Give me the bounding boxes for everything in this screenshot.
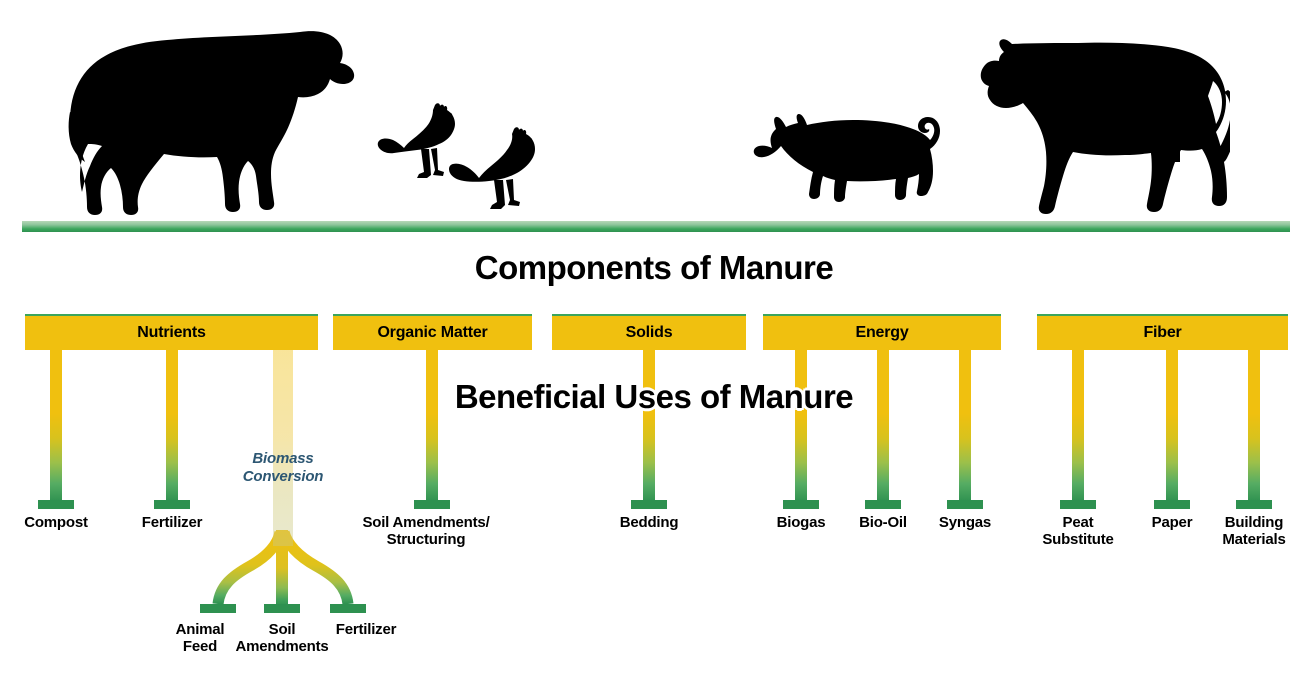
use-label-syngas: Syngas: [915, 514, 1015, 531]
text-paper: Paper: [1152, 514, 1193, 531]
text-biomass-line1: Biomass: [223, 450, 343, 468]
component-label-nutrients: Nutrients: [137, 324, 205, 342]
dairy-cow-silhouette: [968, 34, 1230, 224]
stem-syngas: [959, 350, 971, 502]
foot-bio-oil: [865, 500, 901, 509]
text-syngas: Syngas: [939, 514, 991, 531]
use-label-compost: Compost: [6, 514, 106, 531]
component-box-solids[interactable]: Solids: [552, 314, 746, 350]
chicken-two-silhouette: [448, 126, 546, 216]
use-label-soil-amendments: Soil Amendments/ Structuring: [346, 514, 506, 548]
beneficial-uses-of-manure-title: Beneficial Uses of Manure: [0, 378, 1308, 416]
stem-peat-substitute: [1072, 350, 1084, 502]
text-soil-amendments-line1: Soil Amendments/: [346, 514, 506, 531]
component-label-fiber: Fiber: [1143, 324, 1181, 342]
text-building-line2: Materials: [1204, 531, 1304, 548]
component-box-energy[interactable]: Energy: [763, 314, 1001, 350]
component-box-organic-matter[interactable]: Organic Matter: [333, 314, 532, 350]
text-fertilizer: Fertilizer: [142, 514, 203, 531]
foot-soil-amendments: [414, 500, 450, 509]
foot-paper: [1154, 500, 1190, 509]
green-divider-bar: [22, 221, 1290, 232]
foot-syngas: [947, 500, 983, 509]
stem-biogas: [795, 350, 807, 502]
text-compost: Compost: [24, 514, 88, 531]
component-box-nutrients[interactable]: Nutrients: [25, 314, 318, 350]
text-bio-oil: Bio-Oil: [859, 514, 907, 531]
stem-compost: [50, 350, 62, 502]
biomass-output-label-fertilizer: Fertilizer: [313, 621, 419, 638]
foot-compost: [38, 500, 74, 509]
use-label-fertilizer: Fertilizer: [122, 514, 222, 531]
component-label-solids: Solids: [626, 324, 673, 342]
text-bedding: Bedding: [620, 514, 679, 531]
foot-fertilizer: [154, 500, 190, 509]
stem-bio-oil: [877, 350, 889, 502]
pig-silhouette: [748, 112, 953, 208]
stem-bedding: [643, 350, 655, 502]
stem-paper: [1166, 350, 1178, 502]
text-soil-amend-line2: Amendments: [222, 638, 342, 655]
stem-building-materials: [1248, 350, 1260, 502]
infographic-canvas: Components of Manure Beneficial Uses of …: [0, 0, 1308, 698]
use-label-peat-substitute: Peat Substitute: [1018, 514, 1138, 548]
component-label-organic-matter: Organic Matter: [377, 324, 487, 342]
components-of-manure-title: Components of Manure: [0, 249, 1308, 287]
text-peat-line2: Substitute: [1018, 531, 1138, 548]
component-box-fiber[interactable]: Fiber: [1037, 314, 1288, 350]
use-label-bedding: Bedding: [599, 514, 699, 531]
text-fertilizer-bio: Fertilizer: [336, 621, 397, 638]
stem-fertilizer: [166, 350, 178, 502]
component-label-energy: Energy: [855, 324, 908, 342]
stem-soil-amendments: [426, 350, 438, 502]
text-biogas: Biogas: [777, 514, 826, 531]
text-biomass-line2: Conversion: [223, 468, 343, 486]
beef-steer-silhouette: [62, 24, 362, 220]
foot-peat-substitute: [1060, 500, 1096, 509]
foot-building-materials: [1236, 500, 1272, 509]
text-building-line1: Building: [1204, 514, 1304, 531]
use-label-building-materials: Building Materials: [1204, 514, 1304, 548]
foot-biogas: [783, 500, 819, 509]
text-peat-line1: Peat: [1018, 514, 1138, 531]
foot-bedding: [631, 500, 667, 509]
text-soil-amendments-line2: Structuring: [346, 531, 506, 548]
biomass-conversion-note: Biomass Conversion: [223, 450, 343, 486]
